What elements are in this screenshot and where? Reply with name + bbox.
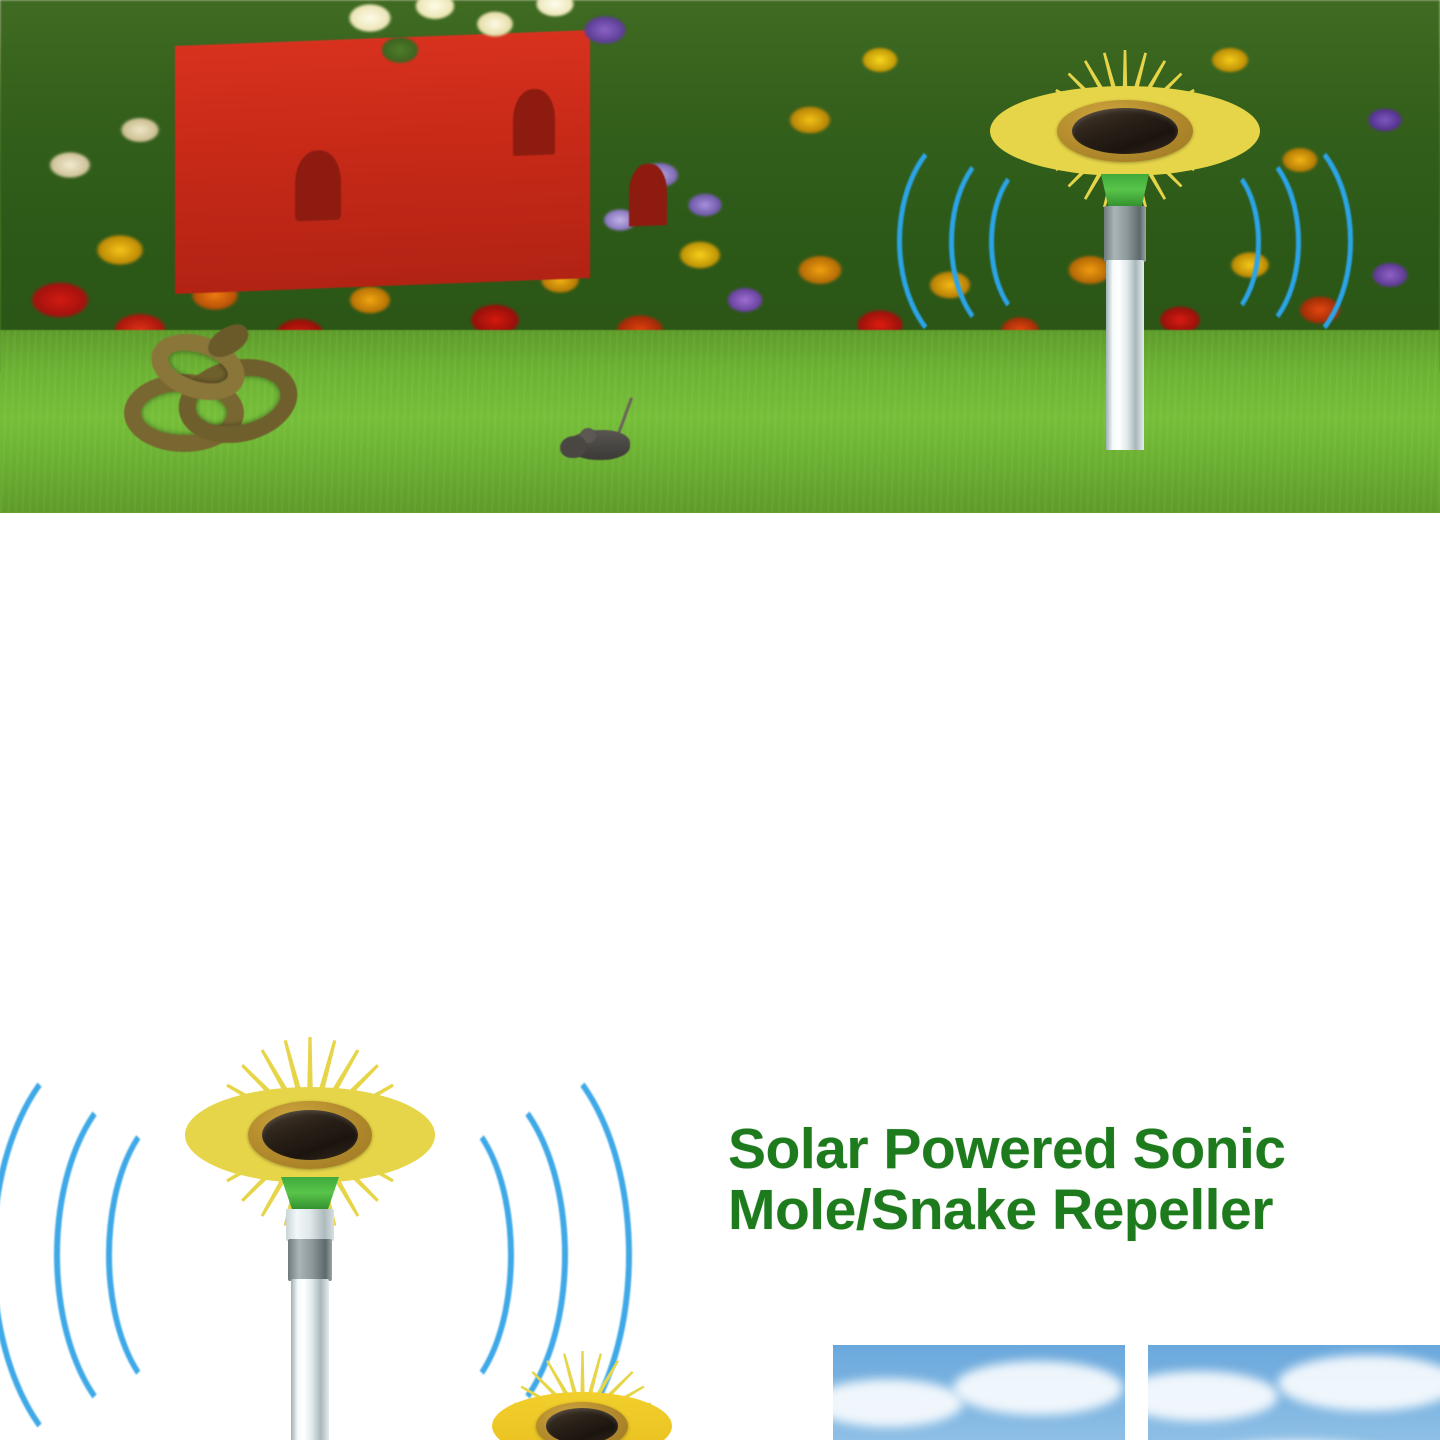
mouse-head (560, 436, 586, 458)
product-detail-section: Solar Powered Sonic Mole/Snake Repeller (0, 513, 1440, 1440)
battery-housing (1104, 206, 1146, 262)
hero-garden-photo (0, 0, 1440, 513)
secondary-repeller-device (487, 1358, 677, 1440)
before-after-comparison: Before (833, 1345, 1440, 1440)
device-shaft (1106, 260, 1144, 450)
mouse-pest (560, 418, 644, 464)
headline-line-2: Mole/Snake Repeller (728, 1180, 1428, 1241)
product-marketing-image: Solar Powered Sonic Mole/Snake Repeller (0, 0, 1440, 1440)
after-panel: After (1148, 1345, 1440, 1440)
battery-housing (286, 1209, 334, 1241)
hero-repeller-device (975, 48, 1275, 448)
device-collar (1101, 174, 1149, 208)
device-shaft (291, 1279, 329, 1440)
headline-line-1: Solar Powered Sonic (728, 1119, 1428, 1180)
page-title: Solar Powered Sonic Mole/Snake Repeller (728, 1119, 1428, 1241)
solar-panel (248, 1101, 372, 1169)
battery-contacts (288, 1239, 332, 1281)
snake-pest (120, 330, 330, 460)
cloud (953, 1361, 1123, 1415)
sonic-wave-arc (989, 160, 1081, 324)
solar-panel (1057, 100, 1193, 162)
main-repeller-device (150, 1043, 470, 1440)
planter-flowers (330, 0, 630, 98)
before-panel: Before (833, 1345, 1125, 1440)
sonic-wave-arc (1169, 160, 1261, 324)
